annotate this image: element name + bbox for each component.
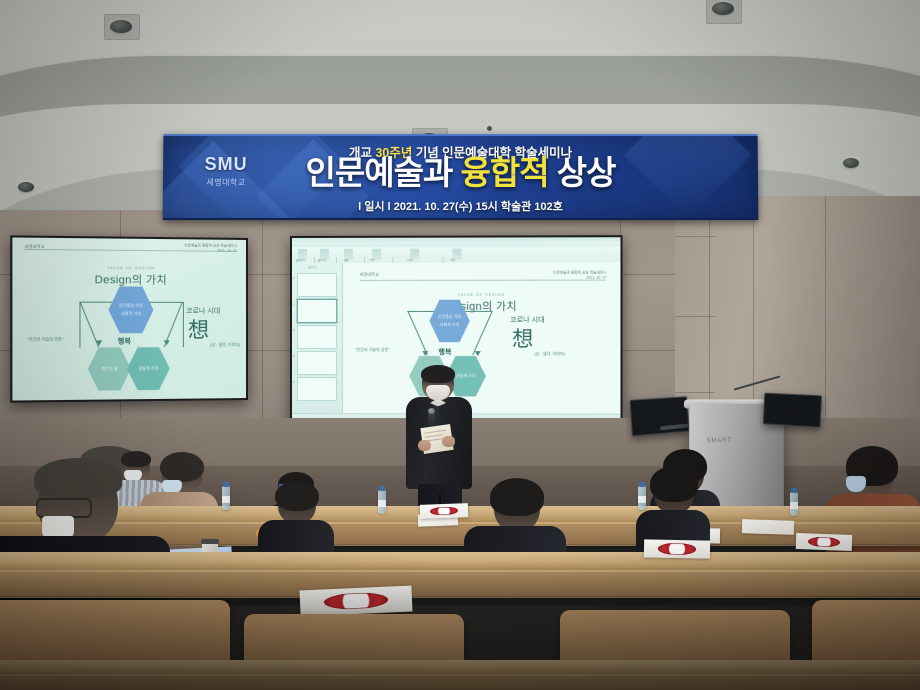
pp-thumbnail-4[interactable] [297,351,337,375]
slide-label-happiness: 행복 [118,336,131,346]
canvas-arrow-left-line [407,311,428,355]
ceiling-speaker [18,182,34,192]
pp-thumbnail-number-1: 1 [293,277,294,280]
slide-title-kicker: VALUE OF DESIGN [12,265,246,271]
slide-label-note: "인간과 기술의 공존" [27,336,63,342]
hex-right-label: 공동체 가치 [138,366,158,372]
pp-slide-pane[interactable]: 슬라이드 1 2 3 4 5 [292,263,343,414]
presenter-hair [421,365,455,383]
canvas-hex-center-line3: 사회적 가치 [440,321,460,329]
presenter-monitor-right [763,393,822,428]
attendee-hair [650,466,698,502]
banner-title-highlight: 융합적 [460,154,548,191]
paper-sheet[interactable] [742,519,794,535]
hex-center-line3: 사회적 가치 [121,310,141,318]
pp-thumbnail-number-4: 4 [293,355,294,358]
attendee-hair [34,458,122,498]
desk-surface [0,660,920,674]
canvas-hex-center-line1: 인간중심 가치 [438,313,461,321]
ceiling-speaker [110,20,132,33]
air-diffuser [487,126,492,131]
desk-surface [0,552,920,570]
pp-thumbnail-number-3: 3 [293,329,294,332]
seminar-photo-scene: SMU 세명대학교 개교 30주년 기념 인문예술대학 학술세미나 인문예술과 … [0,0,920,690]
pp-pane-label: 슬라이드 [308,265,317,269]
pp-ribbon-label-paragraph: 단락 [370,258,374,262]
attendee-hair [275,481,319,511]
desk-front-panel [0,674,920,690]
banner-title-part1: 인문예술과 [305,154,460,191]
slide-arrow-left-head [96,340,102,345]
pp-ribbon-label-editing: 편집 [451,258,455,262]
presenter-monitor-left [630,396,690,436]
hex-left-label: 개인의 삶 [101,366,117,372]
ceiling-speaker [712,2,734,15]
water-bottle [378,490,386,514]
slide-han-character: 想 [188,322,209,341]
pp-thumbnail-5[interactable] [297,377,337,401]
canvas-arrow-right-head [475,351,481,356]
canvas-han-character: 想 [512,331,533,350]
canvas-arrow-right-line [472,311,493,355]
banner-title-part2: 상상 [549,154,616,191]
canvas-slide-logo: 세명대학교 [360,272,379,278]
slide-label-corona: 코로나 시대 [186,306,220,316]
pp-thumbnail-2[interactable] [297,299,337,323]
pp-ribbon[interactable]: 붙여넣기 슬라이드 글꼴 단락 그리기 편집 [292,246,621,264]
pp-ribbon-label-font: 글꼴 [344,258,348,262]
event-banner: SMU 세명대학교 개교 30주년 기념 인문예술대학 학술세미나 인문예술과 … [163,134,759,220]
projected-slide-left: 세명대학교 인문예술과 융합적 상상 학술세미나 2021. 10. 27 VA… [12,237,246,400]
slide-han-subtext: (상 : 생각, 이미지) [210,342,240,348]
microphone-head [428,408,435,414]
pp-slide-canvas[interactable]: 세명대학교 인문예술과 융합적 상상 학술세미나 2021. 10. 27 VA… [343,262,620,414]
slide-title: VALUE OF DESIGN Design의 가치 [12,265,246,288]
canvas-arrow-left-head [422,351,428,356]
water-bottle [790,492,798,516]
water-bottle [222,486,230,510]
distancing-placard [644,539,710,558]
side-projection-screen: 세명대학교 인문예술과 융합적 상상 학술세미나 2021. 10. 27 VA… [10,235,248,402]
pp-ribbon-label-drawing: 그리기 [406,258,413,262]
slide-header-right: 인문예술과 융합적 상상 학술세미나 2021. 10. 27 [184,243,237,254]
slide-hexagon-left: 개인의 삶 [88,346,131,391]
presenter-hand-right [442,436,455,447]
distancing-placard [420,503,468,519]
desk-front-panel [0,570,920,598]
pp-thumbnail-number-2: 2 [293,303,294,306]
ceiling-speaker [843,158,859,168]
hex-center-line1: 인간중심 가치 [119,302,143,310]
banner-details: l 일시 l 2021. 10. 27(수) 15시 학술관 102호 [163,198,759,214]
presenter-hand-left [418,440,431,451]
distancing-placard [796,533,853,551]
canvas-label-note: "인간과 기술의 공존" [355,347,390,353]
pp-thumbnail-1[interactable] [297,273,337,297]
pp-thumbnail-3[interactable] [297,325,337,349]
attendee-hair [490,478,544,516]
slide-arrow-right-head [164,340,170,345]
pp-thumbnail-number-5: 5 [293,381,294,384]
eyeglasses [36,498,92,518]
podium-brand: SMART [707,438,732,444]
slide-title-text: Design의 가치 [95,274,167,287]
placard-seal [808,536,841,547]
pp-ribbon-label-paste: 붙여넣기 [296,258,305,262]
distancing-placard [299,586,412,617]
banner-title: 인문예술과 융합적 상상 [163,156,758,191]
placard-seal [430,506,458,516]
canvas-title-kicker: VALUE OF DESIGN [343,293,620,297]
placard-seal [658,543,696,555]
attendee-face-mask [846,476,866,492]
slide-hexagon-right: 공동체 가치 [127,346,170,391]
canvas-label-happiness: 행복 [438,347,451,357]
canvas-han-subtext: (상 : 생각, 이미지) [534,351,565,357]
pp-ribbon-label-slide: 슬라이드 [318,258,327,262]
placard-seal [323,591,389,610]
canvas-label-corona: 코로나 시대 [510,315,545,325]
